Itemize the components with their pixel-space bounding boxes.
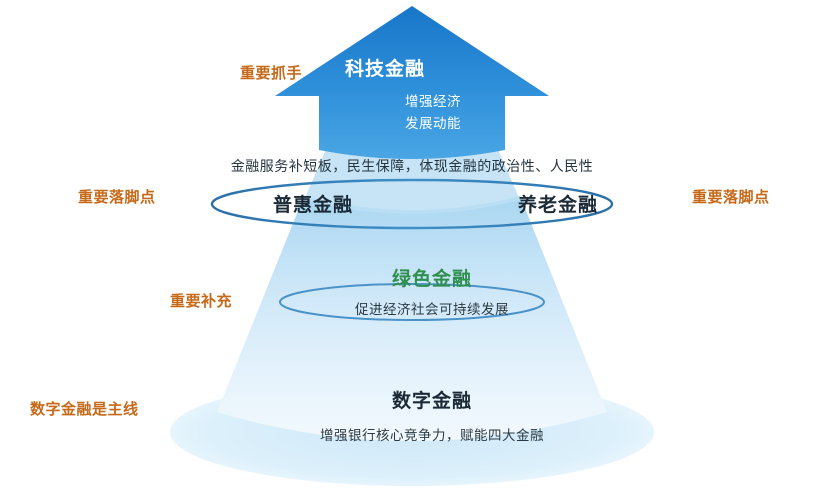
tier-sub-digital-finance: 增强银行核心竞争力，赋能四大金融: [320, 424, 544, 444]
tier-title-green-finance: 绿色金融: [392, 264, 472, 291]
diagram-canvas: 重要抓手 重要落脚点 重要落脚点 重要补充 数字金融是主线 科技金融 增强经济 …: [0, 0, 824, 500]
side-label-mid-left: 重要落脚点: [78, 186, 156, 207]
tier-title-pension-finance: 养老金融: [518, 190, 598, 217]
side-label-mid-right: 重要落脚点: [692, 186, 770, 207]
tier-sub-green-finance: 促进经济社会可持续发展: [355, 298, 509, 318]
arrow-shape: [275, 6, 549, 159]
band-text: 金融服务补短板，民生保障，体现金融的政治性、人民性: [231, 156, 594, 176]
tier-sub-tech-finance-line1: 增强经济: [405, 90, 461, 110]
side-label-top: 重要抓手: [240, 62, 302, 83]
side-label-base: 数字金融是主线: [30, 398, 139, 419]
side-label-supplement: 重要补充: [170, 290, 232, 311]
tier-title-tech-finance: 科技金融: [345, 54, 425, 81]
tier-sub-tech-finance-line2: 发展动能: [405, 112, 461, 132]
tier-title-digital-finance: 数字金融: [392, 386, 472, 413]
tier-title-inclusive-finance: 普惠金融: [273, 190, 353, 217]
